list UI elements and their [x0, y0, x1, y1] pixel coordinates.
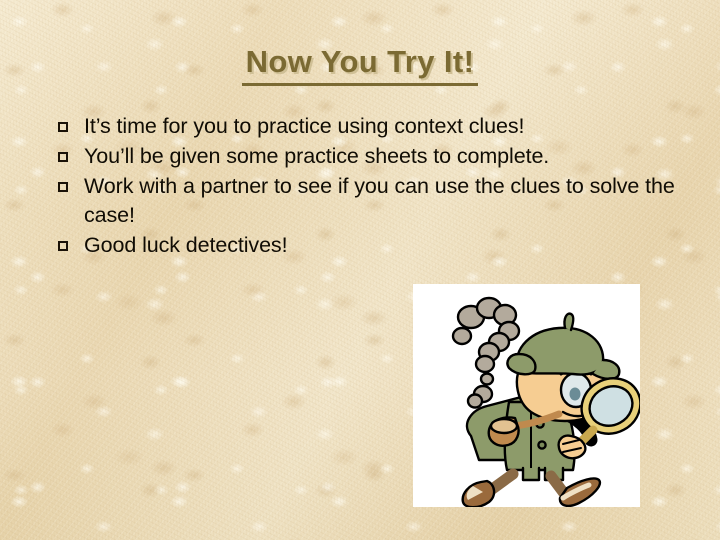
detective-image [413, 284, 640, 507]
hollow-square-bullet-icon [58, 122, 68, 132]
list-item: You’ll be given some practice sheets to … [58, 142, 678, 171]
bullet-list: It’s time for you to practice using cont… [58, 112, 678, 261]
list-item-label: Good luck detectives! [84, 231, 678, 260]
list-item: Work with a partner to see if you can us… [58, 172, 678, 230]
list-item-label: Work with a partner to see if you can us… [84, 172, 678, 230]
list-item-label: You’ll be given some practice sheets to … [84, 142, 678, 171]
hollow-square-bullet-icon [58, 182, 68, 192]
list-item-label: It’s time for you to practice using cont… [84, 112, 678, 141]
page-title: Now You Try It! [242, 46, 479, 86]
detective-illustration-svg [413, 284, 640, 507]
list-item: Good luck detectives! [58, 231, 678, 260]
hat-tuft [564, 314, 573, 330]
hollow-square-bullet-icon [58, 241, 68, 251]
slide-canvas: Now You Try It! It’s time for you to pra… [0, 0, 720, 540]
hat-ear-flap [507, 354, 535, 374]
slide-title-block: Now You Try It! [0, 46, 720, 86]
hollow-square-bullet-icon [58, 152, 68, 162]
list-item: It’s time for you to practice using cont… [58, 112, 678, 141]
